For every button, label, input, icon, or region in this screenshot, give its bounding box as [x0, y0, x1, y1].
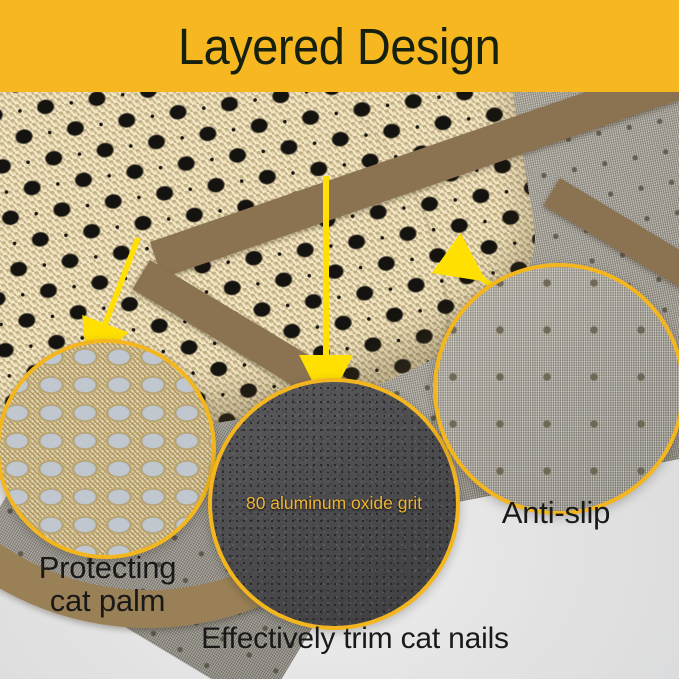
page-title: Layered Design [178, 21, 500, 72]
product-infographic: Layered Design [0, 0, 679, 679]
grit-label: 80 aluminum oxide grit [246, 493, 422, 514]
caption-anti-slip: Anti-slip [440, 496, 672, 529]
callout-anti-slip[interactable] [433, 263, 679, 515]
caption-effectively-trim-cat-nails: Effectively trim cat nails [145, 623, 565, 655]
header-banner: Layered Design [0, 0, 679, 92]
callout-effectively-trim-cat-nails[interactable]: 80 aluminum oxide grit [208, 378, 460, 630]
callout-protecting-cat-palm[interactable] [0, 339, 216, 559]
caption-protecting-cat-palm: Protecting cat palm [0, 551, 215, 617]
product-photo: 80 aluminum oxide grit Protecting cat pa… [0, 92, 679, 679]
